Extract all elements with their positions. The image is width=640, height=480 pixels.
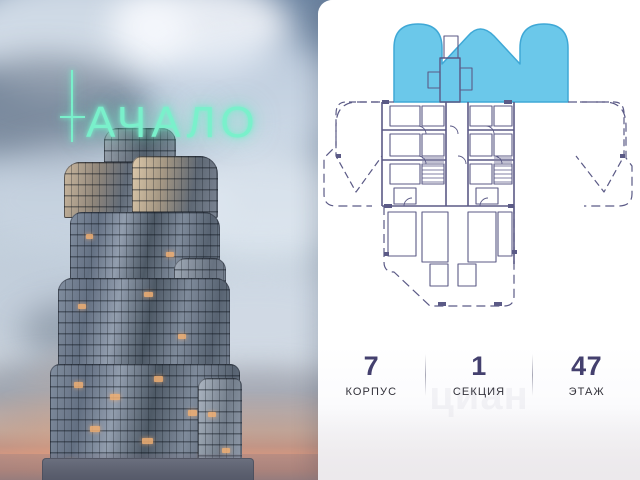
building-render-photo: АЧАЛО <box>0 0 330 480</box>
unit-stats: 7 КОРПУС 1 СЕКЦИЯ 47 ЭТАЖ <box>318 352 640 398</box>
stat-sekciya: 1 СЕКЦИЯ <box>426 352 533 398</box>
stat-value: 47 <box>533 352 640 380</box>
brand-logo: АЧАЛО <box>60 98 260 148</box>
stat-korpus: 7 КОРПУС <box>318 352 425 398</box>
tower-block <box>58 278 230 370</box>
floorplan-svg[interactable] <box>318 6 640 336</box>
tower-block <box>132 156 218 218</box>
stat-label: КОРПУС <box>318 386 425 398</box>
screenshot-root: АЧАЛО циан <box>0 0 640 480</box>
tower-block <box>64 162 140 218</box>
card-bottom-fade <box>318 408 640 480</box>
city-skyline <box>0 454 330 480</box>
logo-mark-icon <box>60 98 86 142</box>
floorplan-container[interactable] <box>318 6 640 336</box>
stat-label: ЭТАЖ <box>533 386 640 398</box>
stat-etazh: 47 ЭТАЖ <box>533 352 640 398</box>
brand-logo-text: АЧАЛО <box>86 98 260 147</box>
skyscraper-illustration <box>48 128 248 480</box>
stat-value: 1 <box>426 352 533 380</box>
floorplan-card: циан <box>318 0 640 480</box>
stat-value: 7 <box>318 352 425 380</box>
stat-label: СЕКЦИЯ <box>426 386 533 398</box>
highlighted-unit-shape <box>394 24 568 102</box>
